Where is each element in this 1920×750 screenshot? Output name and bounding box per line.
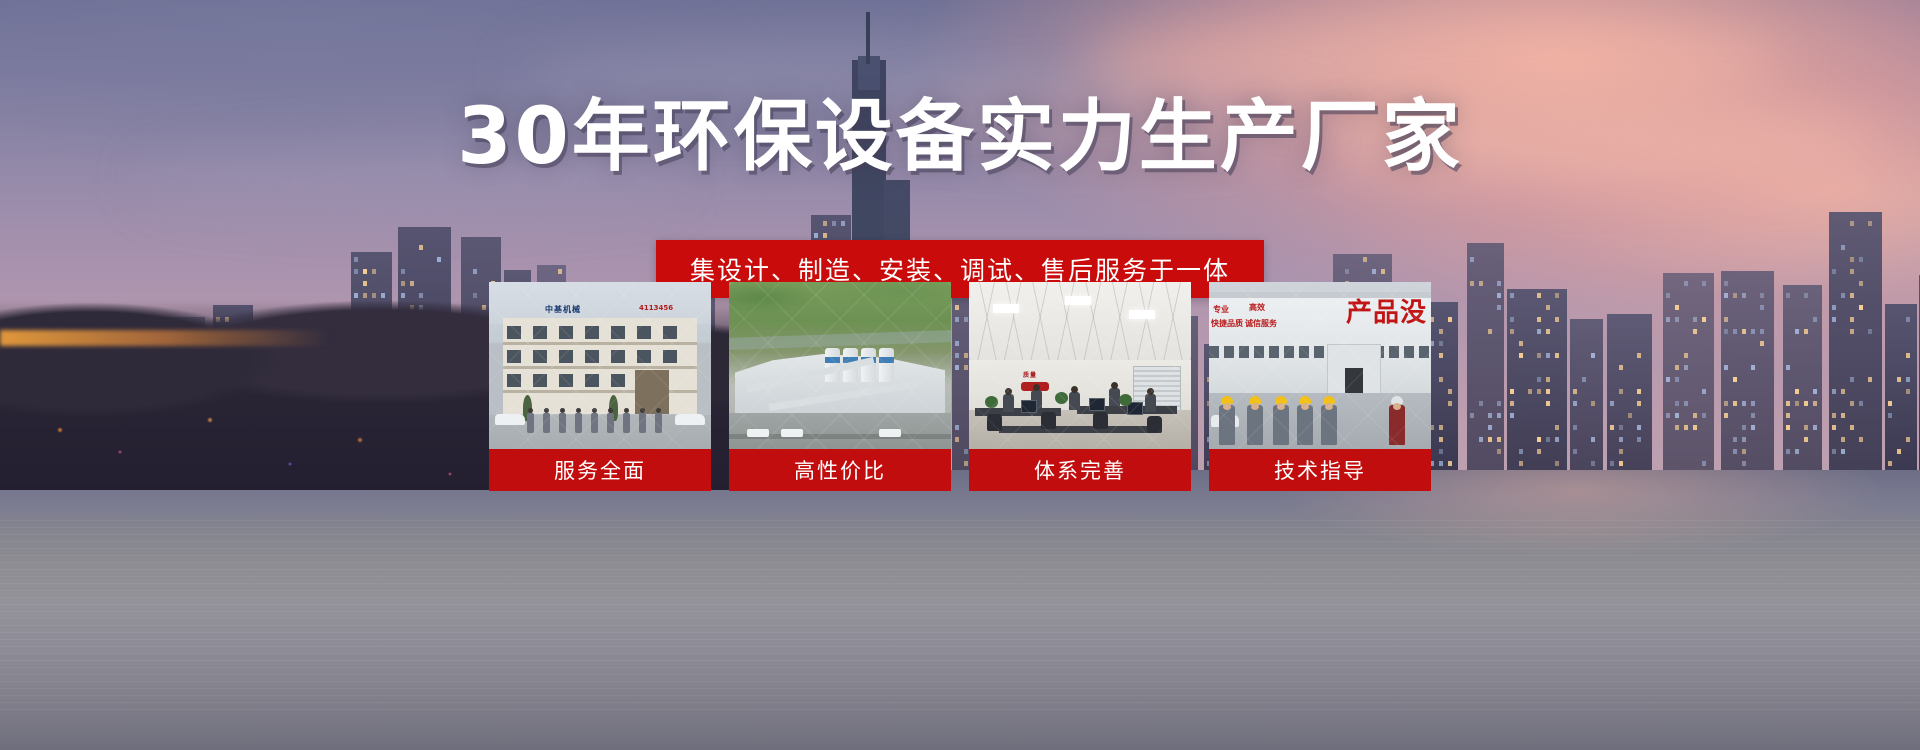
building-window bbox=[1573, 401, 1577, 406]
building-window bbox=[1619, 365, 1623, 370]
building-window bbox=[1555, 317, 1559, 322]
building-window bbox=[1804, 293, 1808, 298]
building-window bbox=[1448, 317, 1452, 322]
building-window bbox=[1850, 425, 1854, 430]
building-window bbox=[1546, 377, 1550, 382]
building-window bbox=[1724, 401, 1728, 406]
card-caption: 服务全面 bbox=[489, 449, 711, 491]
building-window bbox=[1439, 437, 1443, 442]
building-company-sign: 中基机械 bbox=[545, 304, 581, 315]
building-window bbox=[1804, 437, 1808, 442]
skyline-building bbox=[1721, 271, 1774, 470]
factory-slogan: 高效 bbox=[1249, 304, 1265, 313]
building-window bbox=[1742, 437, 1746, 442]
building-window bbox=[1906, 389, 1910, 394]
building-window bbox=[1786, 413, 1790, 418]
building-window bbox=[1381, 269, 1385, 274]
building-window bbox=[1345, 269, 1349, 274]
building-window bbox=[363, 293, 367, 298]
building-window bbox=[1573, 449, 1577, 454]
card-caption: 高性价比 bbox=[729, 449, 951, 491]
building-window bbox=[1693, 317, 1697, 322]
building-window bbox=[1850, 221, 1854, 226]
skyline-building bbox=[1829, 212, 1882, 470]
building-window bbox=[1850, 401, 1854, 406]
building-window bbox=[1841, 245, 1845, 250]
building-window bbox=[1693, 413, 1697, 418]
building-window bbox=[1510, 317, 1514, 322]
building-window bbox=[1619, 437, 1623, 442]
building-window bbox=[410, 281, 414, 286]
building-window bbox=[1497, 401, 1501, 406]
building-window bbox=[1832, 413, 1836, 418]
building-window bbox=[1479, 281, 1483, 286]
building-window bbox=[1537, 389, 1541, 394]
building-window bbox=[1841, 389, 1845, 394]
building-window bbox=[1693, 329, 1697, 334]
building-window bbox=[1742, 401, 1746, 406]
building-window bbox=[1868, 221, 1872, 226]
building-window bbox=[1555, 293, 1559, 298]
building-window bbox=[1859, 401, 1863, 406]
building-window bbox=[1751, 329, 1755, 334]
building-window bbox=[1742, 329, 1746, 334]
building-window bbox=[1786, 401, 1790, 406]
building-window bbox=[1510, 401, 1514, 406]
building-window bbox=[1537, 377, 1541, 382]
building-window bbox=[1813, 389, 1817, 394]
building-window bbox=[1363, 257, 1367, 262]
building-window bbox=[1813, 425, 1817, 430]
building-window bbox=[1733, 329, 1737, 334]
building-window bbox=[401, 269, 405, 274]
building-window bbox=[1786, 449, 1790, 454]
building-window bbox=[1488, 425, 1492, 430]
building-window bbox=[363, 281, 367, 286]
building-window bbox=[372, 293, 376, 298]
building-window bbox=[1897, 449, 1901, 454]
building-window bbox=[1742, 293, 1746, 298]
building-window bbox=[1841, 293, 1845, 298]
building-window bbox=[1841, 437, 1845, 442]
building-window bbox=[1470, 257, 1474, 262]
building-window bbox=[1675, 401, 1679, 406]
building-window bbox=[1850, 317, 1854, 322]
building-window bbox=[1497, 281, 1501, 286]
building-window bbox=[1537, 293, 1541, 298]
building-window bbox=[372, 269, 376, 274]
building-window bbox=[1733, 293, 1737, 298]
building-window bbox=[1684, 425, 1688, 430]
skyline-building bbox=[1663, 273, 1714, 470]
building-window bbox=[1702, 389, 1706, 394]
building-window bbox=[1906, 353, 1910, 358]
building-window bbox=[1859, 437, 1863, 442]
skyline-building bbox=[1607, 314, 1652, 470]
building-window bbox=[1439, 425, 1443, 430]
building-window bbox=[558, 269, 562, 274]
building-window bbox=[1702, 413, 1706, 418]
building-window bbox=[1786, 293, 1790, 298]
building-window bbox=[1619, 389, 1623, 394]
building-window bbox=[1760, 329, 1764, 334]
building-window bbox=[1637, 425, 1641, 430]
hero-banner: 30年环保设备实力生产厂家 集设计、制造、安装、调试、售后服务于一体 中基机械 … bbox=[0, 0, 1920, 750]
building-window bbox=[437, 257, 441, 262]
building-window bbox=[1470, 413, 1474, 418]
building-window bbox=[1666, 413, 1670, 418]
building-window bbox=[1906, 317, 1910, 322]
building-window bbox=[1724, 413, 1728, 418]
building-window bbox=[1859, 305, 1863, 310]
building-window bbox=[1804, 401, 1808, 406]
building-window bbox=[1832, 269, 1836, 274]
building-window bbox=[1628, 413, 1632, 418]
card-photo-plant-aerial bbox=[729, 282, 951, 449]
building-window bbox=[1733, 401, 1737, 406]
building-window bbox=[1637, 353, 1641, 358]
building-window bbox=[1610, 461, 1614, 466]
card-photo-office-building: 中基机械 4113456 bbox=[489, 282, 711, 449]
building-window bbox=[419, 245, 423, 250]
feature-card[interactable]: 产品没 专业 快捷品质 高效 诚信服务 技术指导 bbox=[1209, 282, 1431, 491]
building-window bbox=[832, 221, 836, 226]
building-window bbox=[1684, 401, 1688, 406]
building-window bbox=[401, 281, 405, 286]
building-window bbox=[1832, 389, 1836, 394]
building-window bbox=[1724, 281, 1728, 286]
building-window bbox=[1850, 257, 1854, 262]
building-window-row bbox=[507, 350, 693, 363]
building-window bbox=[1591, 461, 1595, 466]
building-window bbox=[1760, 305, 1764, 310]
skyline-building bbox=[1507, 289, 1567, 470]
building-window bbox=[1528, 389, 1532, 394]
building-window bbox=[1832, 425, 1836, 430]
building-window bbox=[1619, 449, 1623, 454]
feature-card[interactable]: 中基机械 4113456 bbox=[489, 282, 711, 491]
building-window bbox=[1439, 329, 1443, 334]
building-window bbox=[1684, 281, 1688, 286]
building-window bbox=[1813, 317, 1817, 322]
building-window bbox=[1510, 329, 1514, 334]
building-window bbox=[1675, 377, 1679, 382]
building-window bbox=[1497, 293, 1501, 298]
building-window bbox=[1637, 437, 1641, 442]
building-window bbox=[1555, 353, 1559, 358]
building-window bbox=[1859, 281, 1863, 286]
building-window bbox=[1546, 305, 1550, 310]
building-window bbox=[1675, 365, 1679, 370]
building-window bbox=[1479, 437, 1483, 442]
building-window bbox=[401, 293, 405, 298]
skyline-building bbox=[1467, 243, 1504, 470]
building-window bbox=[1786, 365, 1790, 370]
building-window bbox=[1675, 425, 1679, 430]
building-window bbox=[1751, 401, 1755, 406]
building-window bbox=[1684, 353, 1688, 358]
building-window bbox=[1637, 401, 1641, 406]
building-window bbox=[1795, 329, 1799, 334]
building-window bbox=[1742, 461, 1746, 466]
card-photo-factory-workers: 产品没 专业 快捷品质 高效 诚信服务 bbox=[1209, 282, 1431, 449]
building-window bbox=[1888, 461, 1892, 466]
building-window bbox=[1804, 425, 1808, 430]
factory-wall-text: 产品没 bbox=[1346, 300, 1427, 326]
building-window bbox=[1448, 461, 1452, 466]
building-window bbox=[1786, 425, 1790, 430]
building-window bbox=[1573, 425, 1577, 430]
building-window bbox=[1591, 353, 1595, 358]
building-window bbox=[1546, 389, 1550, 394]
building-window bbox=[1751, 413, 1755, 418]
building-window bbox=[1470, 281, 1474, 286]
building-window bbox=[1546, 329, 1550, 334]
building-window bbox=[1906, 377, 1910, 382]
card-caption: 技术指导 bbox=[1209, 449, 1431, 491]
building-window bbox=[1537, 353, 1541, 358]
building-window bbox=[381, 293, 385, 298]
building-window bbox=[1868, 377, 1872, 382]
building-window bbox=[1510, 389, 1514, 394]
building-window bbox=[1519, 449, 1523, 454]
building-window bbox=[1733, 437, 1737, 442]
building-window bbox=[1868, 329, 1872, 334]
card-caption: 体系完善 bbox=[969, 449, 1191, 491]
feature-card-row: 中基机械 4113456 bbox=[489, 282, 1431, 491]
building-window bbox=[1897, 377, 1901, 382]
building-window bbox=[419, 293, 423, 298]
building-window bbox=[1832, 449, 1836, 454]
building-window bbox=[1684, 365, 1688, 370]
building-window bbox=[1519, 341, 1523, 346]
building-window bbox=[1610, 401, 1614, 406]
building-window bbox=[1859, 257, 1863, 262]
building-window bbox=[1610, 425, 1614, 430]
building-window bbox=[1832, 305, 1836, 310]
building-window bbox=[1795, 389, 1799, 394]
building-window bbox=[354, 257, 358, 262]
building-window bbox=[841, 221, 845, 226]
building-window bbox=[354, 293, 358, 298]
building-window bbox=[1537, 437, 1541, 442]
building-window bbox=[1372, 269, 1376, 274]
building-window bbox=[1439, 377, 1443, 382]
factory-slogan: 快捷品质 bbox=[1211, 320, 1243, 329]
building-window bbox=[1742, 425, 1746, 430]
building-window bbox=[1439, 461, 1443, 466]
building-window bbox=[814, 233, 818, 238]
building-window bbox=[823, 233, 827, 238]
building-window bbox=[1760, 341, 1764, 346]
building-window bbox=[1555, 425, 1559, 430]
building-window-row bbox=[507, 326, 693, 339]
building-window bbox=[1702, 317, 1706, 322]
feature-card[interactable]: 质量 bbox=[969, 282, 1191, 491]
feature-card[interactable]: 高性价比 bbox=[729, 282, 951, 491]
building-window bbox=[1591, 401, 1595, 406]
building-window bbox=[1804, 329, 1808, 334]
building-window bbox=[1546, 437, 1550, 442]
skyline-building bbox=[1783, 285, 1822, 470]
building-window bbox=[354, 269, 358, 274]
building-window bbox=[363, 269, 367, 274]
building-window bbox=[1850, 269, 1854, 274]
building-window bbox=[1591, 437, 1595, 442]
building-window bbox=[1439, 449, 1443, 454]
building-window bbox=[1488, 437, 1492, 442]
building-window bbox=[1702, 461, 1706, 466]
building-window bbox=[1519, 461, 1523, 466]
card-photo-office-interior: 质量 bbox=[969, 282, 1191, 449]
building-window bbox=[1733, 377, 1737, 382]
building-window bbox=[1488, 413, 1492, 418]
building-window bbox=[1439, 353, 1443, 358]
banner-headline: 30年环保设备实力生产厂家 bbox=[0, 98, 1920, 176]
building-window bbox=[1888, 413, 1892, 418]
building-window bbox=[1497, 305, 1501, 310]
building-window bbox=[473, 269, 477, 274]
building-window bbox=[1519, 353, 1523, 358]
building-window bbox=[1675, 317, 1679, 322]
building-window bbox=[1546, 353, 1550, 358]
building-window bbox=[1751, 425, 1755, 430]
building-window bbox=[1666, 317, 1670, 322]
building-window bbox=[1537, 329, 1541, 334]
building-phone-sign: 4113456 bbox=[639, 304, 673, 312]
building-window bbox=[1850, 329, 1854, 334]
building-window bbox=[1666, 377, 1670, 382]
building-window bbox=[1555, 461, 1559, 466]
building-entrance bbox=[635, 370, 669, 414]
building-window bbox=[1675, 305, 1679, 310]
building-window bbox=[1702, 281, 1706, 286]
building-window bbox=[1693, 425, 1697, 430]
building-window bbox=[1510, 413, 1514, 418]
building-window bbox=[473, 293, 477, 298]
building-window bbox=[1742, 449, 1746, 454]
building-window bbox=[1479, 401, 1483, 406]
building-window bbox=[1813, 401, 1817, 406]
building-window bbox=[1795, 401, 1799, 406]
building-window bbox=[1832, 317, 1836, 322]
building-window bbox=[1573, 389, 1577, 394]
building-window bbox=[1666, 293, 1670, 298]
factory-slogan: 诚信服务 bbox=[1245, 320, 1277, 329]
building-window bbox=[1724, 365, 1728, 370]
skyline-building bbox=[1885, 304, 1917, 470]
building-window bbox=[1619, 425, 1623, 430]
building-window bbox=[1850, 293, 1854, 298]
building-window bbox=[1497, 413, 1501, 418]
building-window bbox=[1733, 449, 1737, 454]
factory-slogan: 专业 bbox=[1213, 306, 1229, 315]
building-window bbox=[1439, 341, 1443, 346]
building-window bbox=[1888, 401, 1892, 406]
building-window bbox=[1497, 449, 1501, 454]
building-window bbox=[1510, 293, 1514, 298]
building-window bbox=[1637, 389, 1641, 394]
building-window bbox=[1497, 437, 1501, 442]
building-window bbox=[1537, 317, 1541, 322]
building-window bbox=[1724, 329, 1728, 334]
skyline-building bbox=[1570, 319, 1603, 470]
building-window bbox=[1675, 413, 1679, 418]
building-window bbox=[1724, 293, 1728, 298]
tower-spire bbox=[866, 12, 870, 64]
building-window bbox=[1906, 437, 1910, 442]
building-window bbox=[823, 221, 827, 226]
building-window bbox=[1795, 449, 1799, 454]
building-window bbox=[1760, 293, 1764, 298]
building-window bbox=[1488, 329, 1492, 334]
building-window bbox=[1841, 449, 1845, 454]
building-window bbox=[1724, 317, 1728, 322]
building-window bbox=[1448, 389, 1452, 394]
building-window bbox=[1555, 437, 1559, 442]
building-window bbox=[1751, 365, 1755, 370]
building-window bbox=[1841, 413, 1845, 418]
building-window bbox=[1582, 377, 1586, 382]
building-window bbox=[1619, 461, 1623, 466]
building-window bbox=[1546, 401, 1550, 406]
bridge-lights bbox=[0, 330, 330, 346]
building-window bbox=[1850, 377, 1854, 382]
building-window bbox=[1448, 401, 1452, 406]
building-window bbox=[1537, 449, 1541, 454]
